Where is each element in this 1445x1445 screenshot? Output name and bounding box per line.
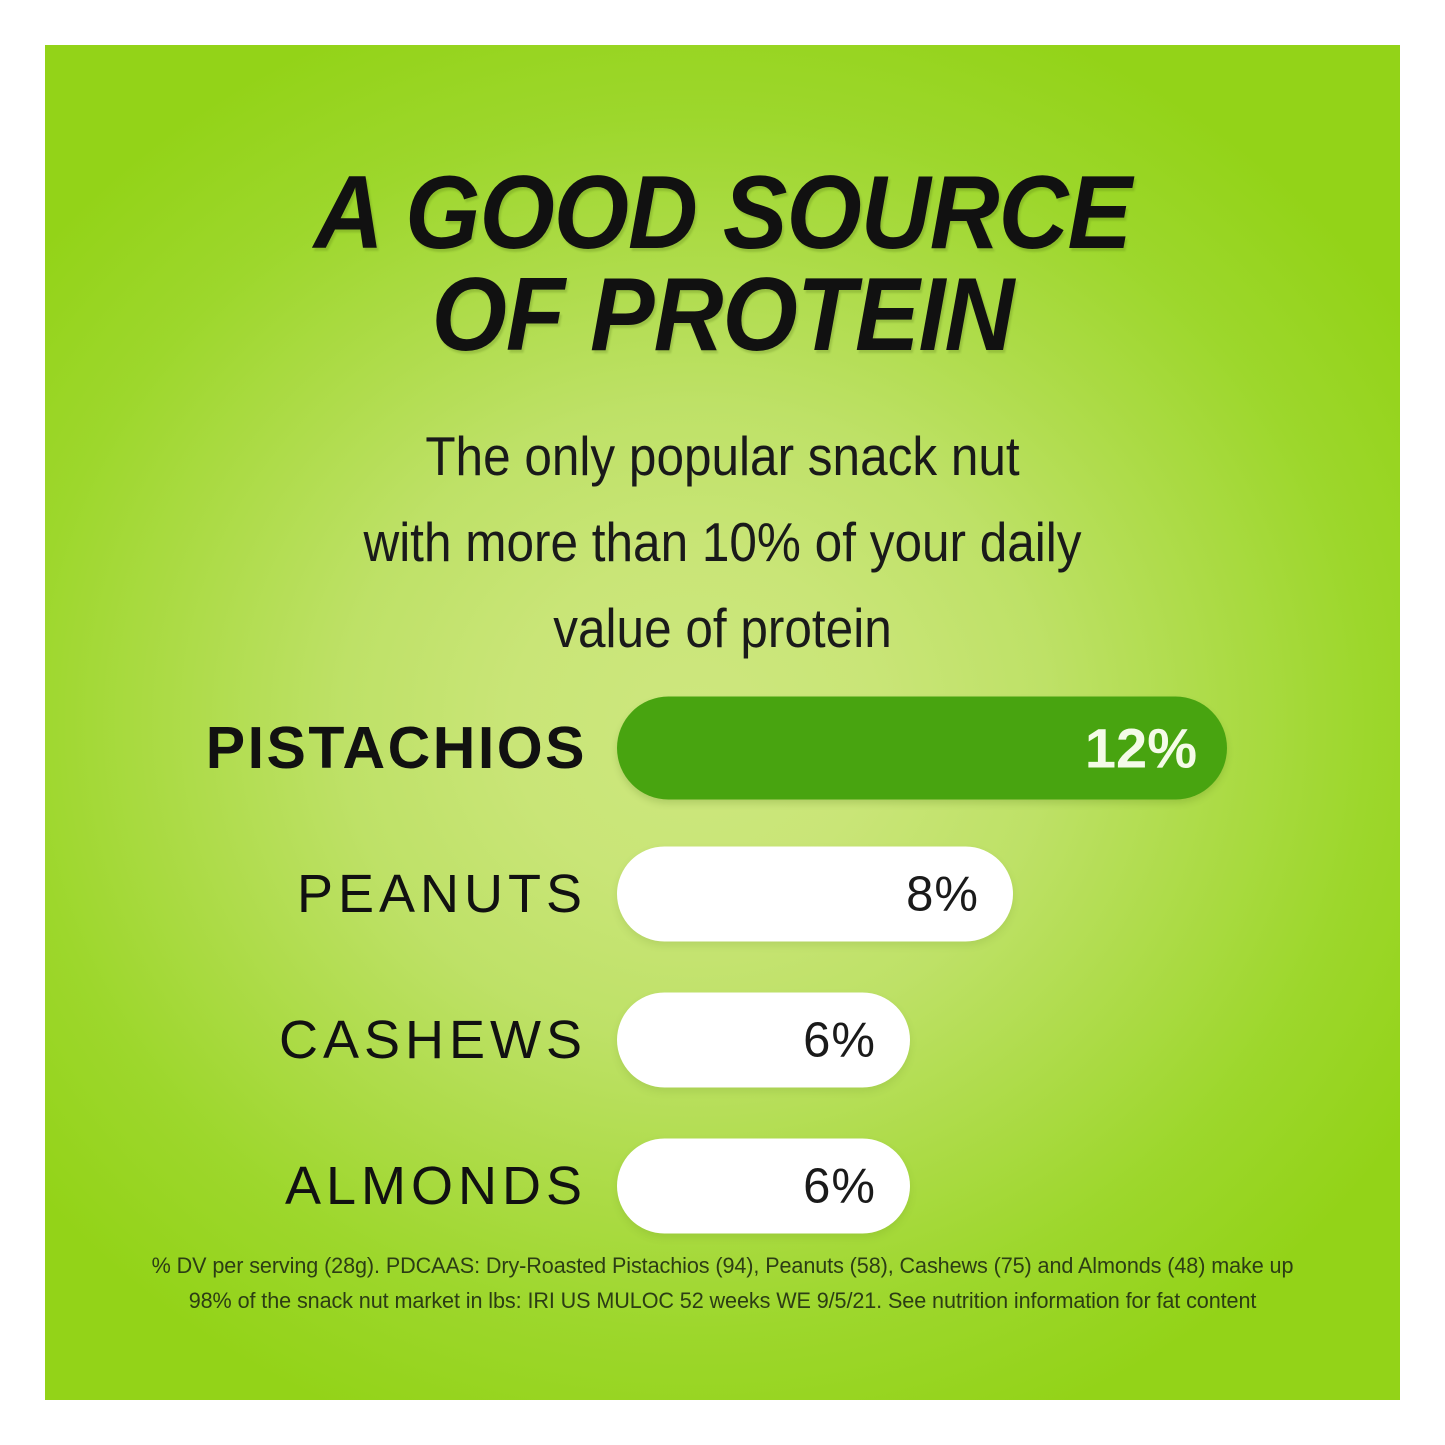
bar-track-pistachios: 12% [617, 697, 1227, 800]
footnote-line-1: % DV per serving (28g). PDCAAS: Dry-Roas… [72, 1248, 1373, 1283]
bar-row-cashews: CASHEWS 6% [45, 967, 1400, 1113]
bar-value-almonds: 6% [803, 1158, 876, 1214]
bar-track-peanuts: 8% [617, 847, 1013, 942]
footnote-line-2: 98% of the snack nut market in lbs: IRI … [72, 1283, 1373, 1318]
subtitle-line-1: The only popular snack nut [113, 413, 1333, 499]
bar-value-peanuts: 8% [906, 866, 979, 922]
page-title: A GOOD SOURCE OF PROTEIN [92, 163, 1352, 367]
subtitle: The only popular snack nut with more tha… [113, 413, 1333, 671]
bar-track-almonds: 6% [617, 1139, 910, 1234]
bar-label-pistachios: PISTACHIOS [206, 675, 587, 821]
bar-track-cashews: 6% [617, 993, 910, 1088]
subtitle-line-3: value of protein [113, 585, 1333, 671]
bar-row-pistachios: PISTACHIOS 12% [45, 675, 1400, 821]
poster-frame: A GOOD SOURCE OF PROTEIN The only popula… [0, 0, 1445, 1445]
bar-label-peanuts: PEANUTS [297, 821, 587, 967]
bar-row-peanuts: PEANUTS 8% [45, 821, 1400, 967]
subtitle-line-2: with more than 10% of your daily [113, 499, 1333, 585]
headline-line-1: A GOOD SOURCE [92, 163, 1352, 265]
bar-label-almonds: ALMONDS [285, 1113, 587, 1259]
footnote: % DV per serving (28g). PDCAAS: Dry-Roas… [72, 1248, 1373, 1318]
bar-label-cashews: CASHEWS [279, 967, 587, 1113]
bar-value-cashews: 6% [803, 1012, 876, 1068]
infographic-panel: A GOOD SOURCE OF PROTEIN The only popula… [45, 45, 1400, 1400]
headline-line-2: OF PROTEIN [92, 265, 1352, 367]
bar-row-almonds: ALMONDS 6% [45, 1113, 1400, 1259]
protein-bar-chart: PISTACHIOS 12% PEANUTS 8% CASHEWS 6% ALM… [45, 675, 1400, 1259]
bar-value-pistachios: 12% [1085, 716, 1197, 781]
